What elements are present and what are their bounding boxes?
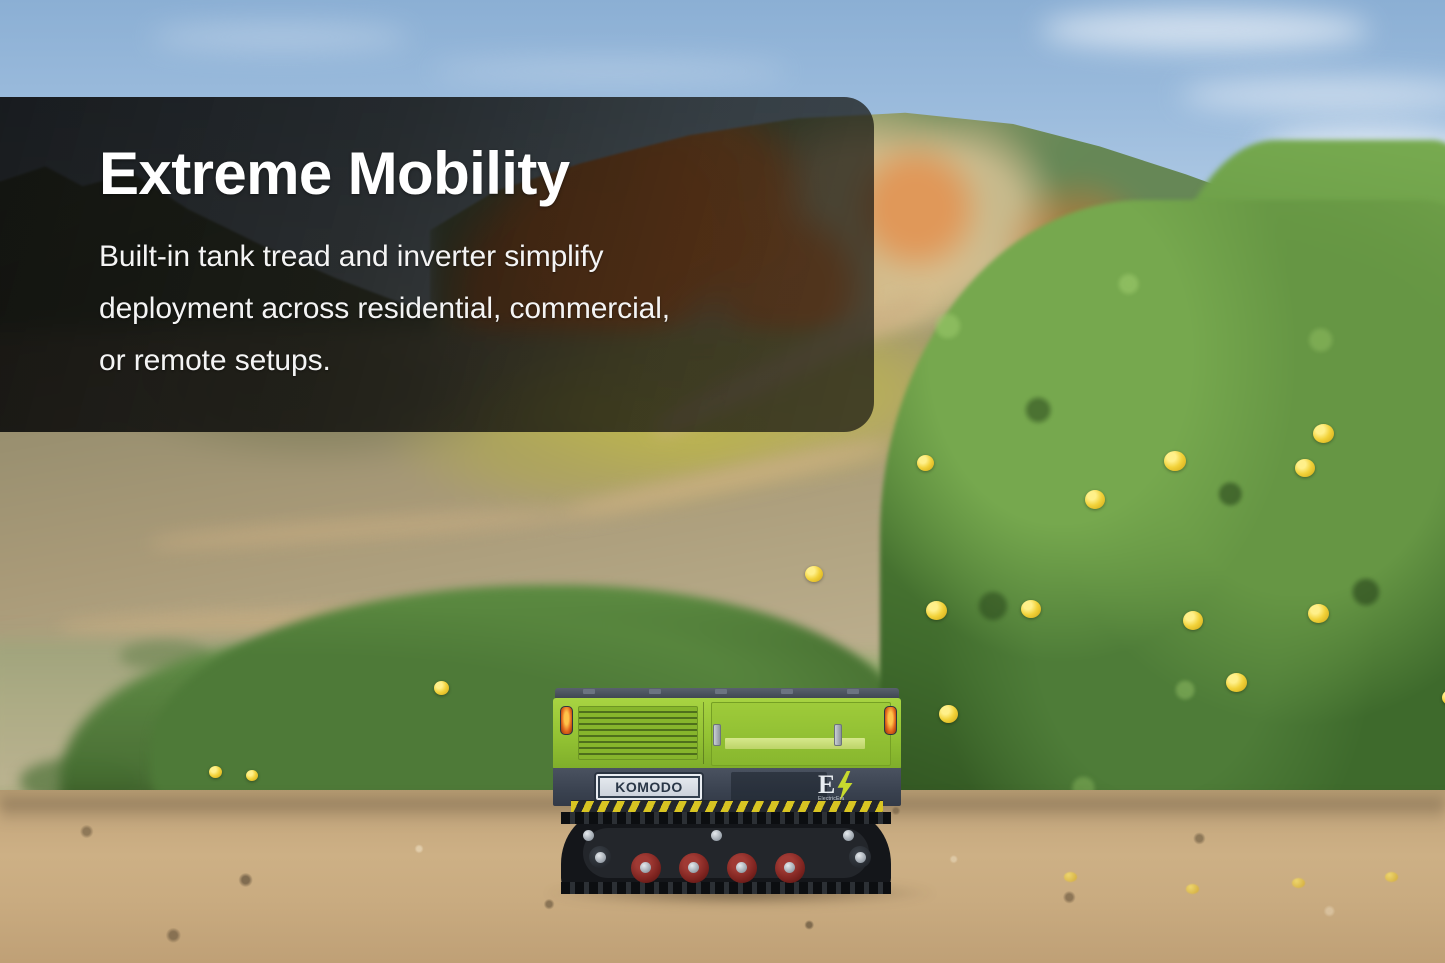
- cloud: [430, 60, 790, 82]
- citrus-fruit: [1021, 600, 1041, 618]
- citrus-fruit: [1295, 459, 1315, 477]
- fallen-fruit: [1186, 884, 1199, 894]
- wheel-hub: [640, 862, 651, 873]
- citrus-fruit: [926, 601, 947, 620]
- wheel-hub: [711, 830, 722, 841]
- fallen-fruit: [1385, 872, 1398, 882]
- brand-badge: KOMODO: [594, 772, 704, 802]
- side-access-panel: [731, 772, 827, 802]
- roof-clip: [847, 689, 859, 694]
- citrus-fruit: [1226, 673, 1247, 692]
- wheel-hub: [784, 862, 795, 873]
- citrus-fruit: [246, 770, 258, 781]
- citrus-fruit: [1085, 490, 1105, 509]
- citrus-fruit: [1308, 604, 1329, 623]
- citrus-fruit: [805, 566, 823, 582]
- fallen-fruit: [1292, 878, 1305, 888]
- wheel-hub: [843, 830, 854, 841]
- track-frame: [583, 828, 869, 878]
- roof-clip: [781, 689, 793, 694]
- overlay-text-block: Extreme Mobility Built-in tank tread and…: [99, 97, 839, 387]
- wheel-hub: [595, 852, 606, 863]
- wheel-hub: [688, 862, 699, 873]
- latch-handle[interactable]: [713, 724, 721, 746]
- latch-handle[interactable]: [834, 724, 842, 746]
- subtitle-line-3: or remote setups.: [99, 335, 839, 387]
- citrus-fruit: [1313, 424, 1334, 443]
- fallen-fruit: [1064, 872, 1077, 882]
- lid-highlight-stripe: [725, 738, 865, 749]
- track-cleats-bottom: [561, 882, 891, 894]
- radiator-vent: [578, 706, 698, 760]
- marker-light: [884, 706, 897, 735]
- access-lid-panel: [711, 702, 891, 766]
- page-title: Extreme Mobility: [99, 97, 839, 205]
- citrus-fruit: [917, 455, 934, 471]
- hero-banner: KOMODO E ElectricEra: [0, 0, 1445, 963]
- marker-light: [560, 706, 573, 735]
- wheel-hub: [855, 852, 866, 863]
- energy-logo-letter: E: [818, 772, 835, 798]
- brand-badge-label: KOMODO: [615, 780, 683, 794]
- energy-logo: E ElectricEra: [818, 772, 862, 802]
- citrus-fruit: [209, 766, 222, 778]
- citrus-fruit: [939, 705, 958, 723]
- wheel-hub: [583, 830, 594, 841]
- wheel-hub: [736, 862, 747, 873]
- citrus-fruit: [1183, 611, 1203, 630]
- roof-clip: [715, 689, 727, 694]
- citrus-fruit: [434, 681, 449, 695]
- cloud: [1040, 10, 1370, 50]
- roof-clip: [649, 689, 661, 694]
- cloud: [150, 24, 410, 50]
- komodo-tracked-generator: KOMODO E ElectricEra: [553, 688, 903, 913]
- citrus-fruit: [1164, 451, 1186, 471]
- track-cleats-top: [561, 812, 891, 824]
- panel-seam: [703, 702, 704, 764]
- subtitle-line-1: Built-in tank tread and inverter simplif…: [99, 205, 839, 283]
- roof-clip: [583, 689, 595, 694]
- subtitle-line-2: deployment across residential, commercia…: [99, 283, 839, 335]
